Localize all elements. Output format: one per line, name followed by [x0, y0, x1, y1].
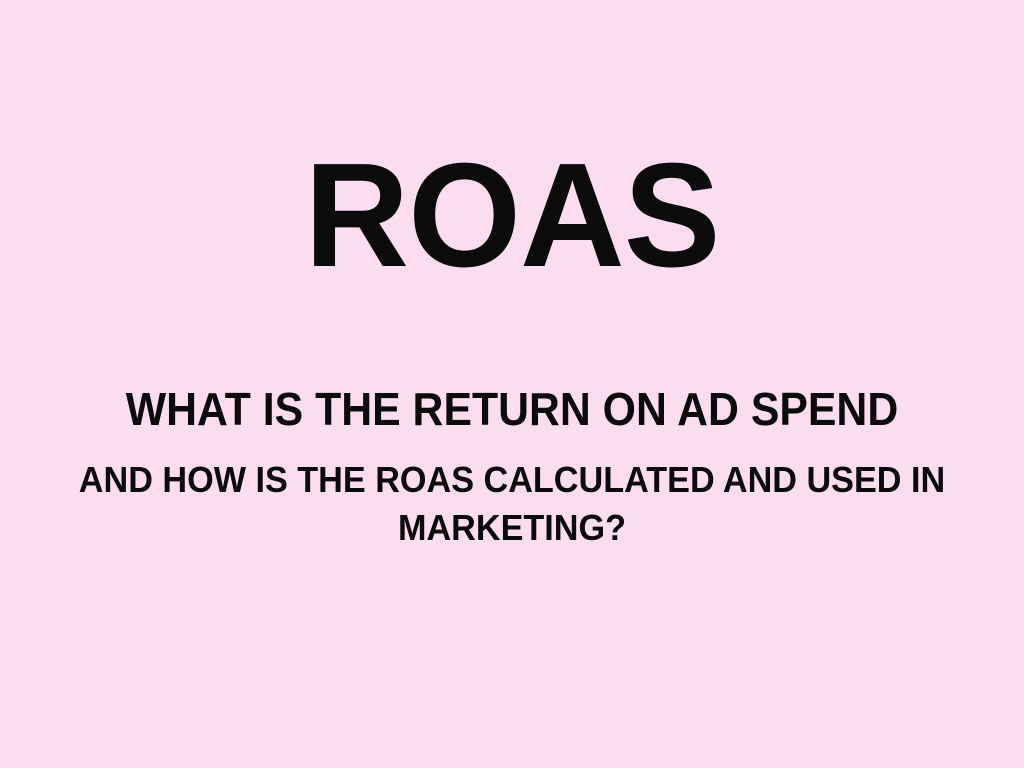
subtitle-block: WHAT IS THE RETURN ON AD SPEND AND HOW I…: [0, 385, 1024, 552]
subtitle-secondary-line-1: AND HOW IS THE ROAS CALCULATED AND USED …: [26, 456, 999, 504]
subtitle-secondary: AND HOW IS THE ROAS CALCULATED AND USED …: [26, 434, 999, 552]
subtitle-secondary-line-2: MARKETING?: [26, 504, 999, 552]
presentation-slide: ROAS WHAT IS THE RETURN ON AD SPEND AND …: [0, 0, 1024, 768]
subtitle-primary: WHAT IS THE RETURN ON AD SPEND: [36, 385, 988, 434]
page-title: ROAS: [10, 142, 1014, 290]
title-block: ROAS: [0, 142, 1024, 290]
